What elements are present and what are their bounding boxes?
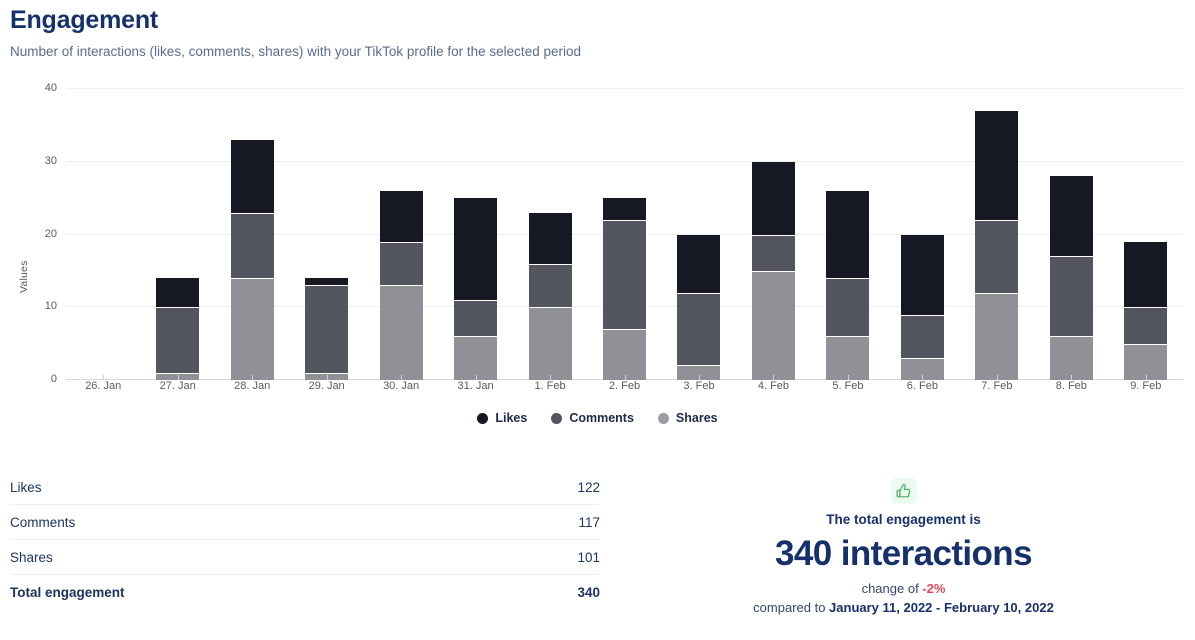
x-axis-tick-label: 3. Feb bbox=[662, 380, 736, 392]
x-axis-tick-label: 30. Jan bbox=[364, 380, 438, 392]
bar-segment-shares[interactable] bbox=[752, 271, 795, 380]
bar-column[interactable] bbox=[438, 89, 512, 380]
bar-column[interactable] bbox=[66, 89, 140, 380]
stacked-bar[interactable] bbox=[305, 89, 348, 380]
bar-segment-comments[interactable] bbox=[752, 235, 795, 271]
page-title: Engagement bbox=[10, 4, 1195, 36]
stacked-bar[interactable] bbox=[901, 89, 944, 380]
bar-segment-comments[interactable] bbox=[529, 264, 572, 308]
header: Engagement Number of interactions (likes… bbox=[0, 0, 1195, 61]
y-axis-tick: 30 bbox=[45, 155, 57, 167]
bar-segment-shares[interactable] bbox=[454, 336, 497, 380]
x-axis-tick-label: 26. Jan bbox=[66, 380, 140, 392]
x-axis-tick-wrap: 3. Feb bbox=[662, 380, 736, 392]
bar-segment-likes[interactable] bbox=[156, 278, 199, 307]
stacked-bar[interactable] bbox=[454, 89, 497, 380]
legend-label: Shares bbox=[676, 411, 718, 425]
thumbs-up-badge bbox=[891, 478, 917, 504]
x-axis-tick-label: 8. Feb bbox=[1034, 380, 1108, 392]
plot-area: 010203040 bbox=[66, 89, 1183, 380]
bar-segment-comments[interactable] bbox=[1124, 307, 1167, 343]
engagement-chart: Values 010203040 26. Jan27. Jan28. Jan29… bbox=[0, 75, 1195, 435]
bar-column[interactable] bbox=[662, 89, 736, 380]
x-axis-tick-label: 7. Feb bbox=[960, 380, 1034, 392]
y-axis-tick: 20 bbox=[45, 228, 57, 240]
x-axis-tick-label: 2. Feb bbox=[587, 380, 661, 392]
summary-label: The total engagement is bbox=[612, 512, 1195, 527]
stacked-bar[interactable] bbox=[1050, 89, 1093, 380]
bar-segment-likes[interactable] bbox=[380, 191, 423, 242]
legend-item-likes[interactable]: Likes bbox=[477, 411, 527, 425]
y-axis-tick: 10 bbox=[45, 300, 57, 312]
bar-segment-comments[interactable] bbox=[603, 220, 646, 329]
x-axis-tick-mark bbox=[997, 375, 998, 380]
bar-segment-comments[interactable] bbox=[454, 300, 497, 336]
bar-segment-comments[interactable] bbox=[305, 285, 348, 372]
table-row-total: Total engagement340 bbox=[10, 575, 600, 610]
stacked-bar[interactable] bbox=[231, 89, 274, 380]
bar-column[interactable] bbox=[215, 89, 289, 380]
summary-compare: compared to January 11, 2022 - February … bbox=[612, 600, 1195, 615]
bottom-section: Likes122Comments117Shares101Total engage… bbox=[0, 470, 1195, 640]
x-axis-tick-mark bbox=[922, 375, 923, 380]
thumbs-up-icon bbox=[895, 483, 912, 500]
bar-column[interactable] bbox=[513, 89, 587, 380]
x-axis-tick-wrap: 29. Jan bbox=[289, 380, 363, 392]
x-axis-tick-mark bbox=[848, 375, 849, 380]
x-axis-tick-wrap: 30. Jan bbox=[364, 380, 438, 392]
x-axis-tick-label: 9. Feb bbox=[1109, 380, 1183, 392]
bar-segment-likes[interactable] bbox=[454, 198, 497, 300]
bar-segment-shares[interactable] bbox=[1050, 336, 1093, 380]
bar-column[interactable] bbox=[885, 89, 959, 380]
bar-column[interactable] bbox=[960, 89, 1034, 380]
x-axis-tick-wrap: 31. Jan bbox=[438, 380, 512, 392]
summary-change-value: -2% bbox=[922, 581, 945, 596]
bar-segment-comments[interactable] bbox=[677, 293, 720, 366]
legend-swatch-shares bbox=[658, 413, 669, 424]
bar-segment-comments[interactable] bbox=[826, 278, 869, 336]
engagement-summary: The total engagement is 340 interactions… bbox=[612, 470, 1195, 640]
stacked-bar[interactable] bbox=[380, 89, 423, 380]
x-axis-tick-wrap: 26. Jan bbox=[66, 380, 140, 392]
bar-column[interactable] bbox=[1034, 89, 1108, 380]
bar-segment-likes[interactable] bbox=[529, 213, 572, 264]
bar-segment-shares[interactable] bbox=[380, 285, 423, 380]
x-axis-tick-mark bbox=[625, 375, 626, 380]
stacked-bar[interactable] bbox=[1124, 89, 1167, 380]
x-axis-tick-wrap: 8. Feb bbox=[1034, 380, 1108, 392]
bar-segment-likes[interactable] bbox=[677, 235, 720, 293]
x-axis-tick-mark bbox=[550, 375, 551, 380]
engagement-panel: Engagement Number of interactions (likes… bbox=[0, 0, 1195, 640]
row-value: 122 bbox=[577, 480, 600, 495]
row-label: Total engagement bbox=[10, 585, 125, 600]
x-axis-tick-mark bbox=[1071, 375, 1072, 380]
stacked-bar[interactable] bbox=[975, 89, 1018, 380]
x-axis-tick-wrap: 1. Feb bbox=[513, 380, 587, 392]
bar-segment-likes[interactable] bbox=[231, 140, 274, 213]
bar-segment-shares[interactable] bbox=[826, 336, 869, 380]
table-row: Shares101 bbox=[10, 540, 600, 575]
x-axis-tick-wrap: 2. Feb bbox=[587, 380, 661, 392]
x-axis-tick-wrap: 9. Feb bbox=[1109, 380, 1183, 392]
bar-column[interactable] bbox=[587, 89, 661, 380]
page-subtitle: Number of interactions (likes, comments,… bbox=[10, 43, 1195, 61]
stacked-bar[interactable] bbox=[752, 89, 795, 380]
bar-segment-likes[interactable] bbox=[603, 198, 646, 220]
x-axis-tick-mark bbox=[252, 375, 253, 380]
y-axis-tick: 40 bbox=[45, 82, 57, 94]
x-axis-tick-mark bbox=[699, 375, 700, 380]
bar-segment-comments[interactable] bbox=[1050, 256, 1093, 336]
summary-change: change of -2% bbox=[612, 581, 1195, 596]
x-axis-tick-label: 27. Jan bbox=[140, 380, 214, 392]
y-axis-title: Values bbox=[18, 260, 30, 293]
bar-column[interactable] bbox=[364, 89, 438, 380]
summary-compare-range: January 11, 2022 - February 10, 2022 bbox=[829, 600, 1054, 615]
x-axis-tick-label: 31. Jan bbox=[438, 380, 512, 392]
summary-change-prefix: change of bbox=[862, 581, 923, 596]
bar-segment-likes[interactable] bbox=[1050, 176, 1093, 256]
bar-group bbox=[66, 89, 1183, 380]
summary-compare-prefix: compared to bbox=[753, 600, 829, 615]
y-axis-tick: 0 bbox=[51, 373, 57, 385]
bar-segment-shares[interactable] bbox=[231, 278, 274, 380]
table-row: Likes122 bbox=[10, 470, 600, 505]
bar-column[interactable] bbox=[289, 89, 363, 380]
x-axis-tick-label: 29. Jan bbox=[289, 380, 363, 392]
bar-column[interactable] bbox=[811, 89, 885, 380]
x-axis-tick-mark bbox=[476, 375, 477, 380]
x-axis-tick-label: 28. Jan bbox=[215, 380, 289, 392]
bar-segment-likes[interactable] bbox=[752, 162, 795, 235]
row-value: 101 bbox=[577, 550, 600, 565]
x-axis-tick-wrap: 5. Feb bbox=[811, 380, 885, 392]
bar-segment-likes[interactable] bbox=[826, 191, 869, 278]
bar-column[interactable] bbox=[140, 89, 214, 380]
bar-segment-likes[interactable] bbox=[1124, 242, 1167, 307]
bar-segment-comments[interactable] bbox=[231, 213, 274, 278]
bar-segment-comments[interactable] bbox=[901, 315, 944, 359]
bar-segment-shares[interactable] bbox=[975, 293, 1018, 380]
legend-swatch-comments bbox=[551, 413, 562, 424]
bar-segment-likes[interactable] bbox=[975, 111, 1018, 220]
legend-item-shares[interactable]: Shares bbox=[658, 411, 718, 425]
stacked-bar[interactable] bbox=[826, 89, 869, 380]
x-axis-tick-mark bbox=[327, 375, 328, 380]
legend-label: Likes bbox=[495, 411, 527, 425]
x-axis-tick-mark bbox=[178, 375, 179, 380]
x-axis-tick-label: 1. Feb bbox=[513, 380, 587, 392]
bar-segment-likes[interactable] bbox=[305, 278, 348, 285]
bar-column[interactable] bbox=[1109, 89, 1183, 380]
row-label: Comments bbox=[10, 515, 75, 530]
row-value: 117 bbox=[578, 515, 600, 530]
x-axis-tick-wrap: 4. Feb bbox=[736, 380, 810, 392]
table-row: Comments117 bbox=[10, 505, 600, 540]
bar-segment-shares[interactable] bbox=[529, 307, 572, 380]
summary-total: 340 interactions bbox=[612, 533, 1195, 575]
stacked-bar[interactable] bbox=[677, 89, 720, 380]
x-axis: 26. Jan27. Jan28. Jan29. Jan30. Jan31. J… bbox=[66, 380, 1183, 392]
x-axis-tick-wrap: 28. Jan bbox=[215, 380, 289, 392]
stacked-bar[interactable] bbox=[529, 89, 572, 380]
bar-segment-shares[interactable] bbox=[603, 329, 646, 380]
legend-label: Comments bbox=[569, 411, 634, 425]
x-axis-tick-mark bbox=[401, 375, 402, 380]
legend-item-comments[interactable]: Comments bbox=[551, 411, 634, 425]
stacked-bar[interactable] bbox=[603, 89, 646, 380]
bar-segment-comments[interactable] bbox=[380, 242, 423, 286]
stacked-bar[interactable] bbox=[82, 89, 125, 380]
x-axis-tick-label: 6. Feb bbox=[885, 380, 959, 392]
bar-segment-comments[interactable] bbox=[975, 220, 1018, 293]
legend-swatch-likes bbox=[477, 413, 488, 424]
engagement-breakdown-table: Likes122Comments117Shares101Total engage… bbox=[0, 470, 612, 640]
x-axis-tick-mark bbox=[773, 375, 774, 380]
x-axis-tick-label: 5. Feb bbox=[811, 380, 885, 392]
x-axis-tick-mark bbox=[103, 375, 104, 380]
x-axis-tick-label: 4. Feb bbox=[736, 380, 810, 392]
stacked-bar[interactable] bbox=[156, 89, 199, 380]
row-label: Shares bbox=[10, 550, 53, 565]
x-axis-tick-mark bbox=[1146, 375, 1147, 380]
x-axis-tick-wrap: 27. Jan bbox=[140, 380, 214, 392]
bar-segment-likes[interactable] bbox=[901, 235, 944, 315]
row-value: 340 bbox=[577, 585, 600, 600]
x-axis-tick-wrap: 7. Feb bbox=[960, 380, 1034, 392]
row-label: Likes bbox=[10, 480, 42, 495]
x-axis-tick-wrap: 6. Feb bbox=[885, 380, 959, 392]
chart-legend: LikesCommentsShares bbox=[0, 411, 1195, 425]
bar-column[interactable] bbox=[736, 89, 810, 380]
bar-segment-comments[interactable] bbox=[156, 307, 199, 372]
